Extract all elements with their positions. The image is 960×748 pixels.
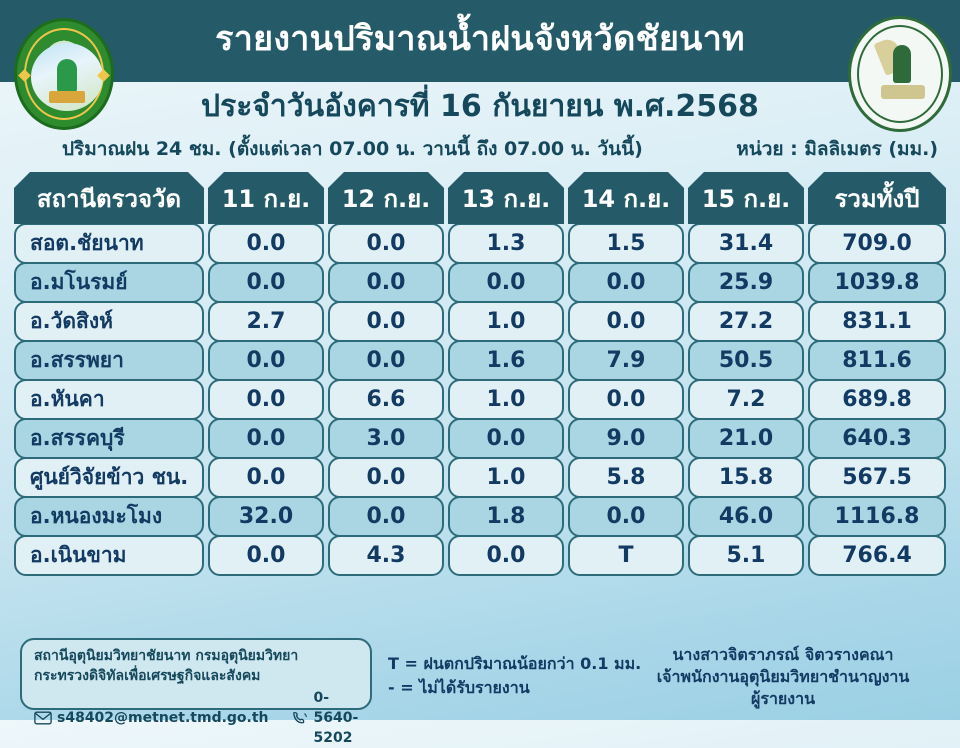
rainfall-value-cell: 50.5 [688, 340, 804, 381]
rainfall-value-cell: 4.3 [328, 535, 444, 576]
rainfall-value-cell: 2.7 [208, 301, 324, 342]
column-header: 15 ก.ย. [688, 172, 804, 224]
column-2: 12 ก.ย.0.00.00.00.06.63.00.00.04.3 [328, 172, 444, 576]
unit-note: หน่วย : มิลลิเมตร (มม.) [736, 136, 938, 162]
rainfall-value-cell: 0.0 [208, 262, 324, 303]
column-header: 11 ก.ย. [208, 172, 324, 224]
logo-pedestal [881, 85, 925, 99]
rainfall-value-cell: 6.6 [328, 379, 444, 420]
logo-deity-figure [893, 45, 911, 83]
column-station: สถานีตรวจวัดสอต.ชัยนาทอ.มโนรมย์อ.วัดสิงห… [14, 172, 204, 576]
contact-box: สถานีอุตุนิยมวิทยาชัยนาท กรมอุตุนิยมวิทย… [20, 638, 372, 710]
contact-line-2: กระทรวงดิจิทัลเพื่อเศรษฐกิจและสังคม [34, 666, 360, 686]
rainfall-value-cell: 1.3 [448, 223, 564, 264]
column-4: 14 ก.ย.1.50.00.07.90.09.05.80.0T [568, 172, 684, 576]
column-1: 11 ก.ย.0.00.02.70.00.00.00.032.00.0 [208, 172, 324, 576]
logo-deity-figure [57, 59, 77, 93]
rainfall-value-cell: 640.3 [808, 418, 946, 459]
rainfall-value-cell: 709.0 [808, 223, 946, 264]
rainfall-value-cell: 0.0 [208, 223, 324, 264]
page-title: รายงานปริมาณน้ำฝนจังหวัดชัยนาท [120, 16, 840, 62]
contact-line-1: สถานีอุตุนิยมวิทยาชัยนาท กรมอุตุนิยมวิทย… [34, 646, 360, 666]
rainfall-value-cell: 32.0 [208, 496, 324, 537]
period-note: ปริมาณฝน 24 ชม. (ตั้งแต่เวลา 07.00 น. วา… [62, 136, 643, 162]
station-name-cell: อ.วัดสิงห์ [14, 301, 204, 342]
rainfall-value-cell: 21.0 [688, 418, 804, 459]
rainfall-value-cell: 1.0 [448, 379, 564, 420]
column-header: 14 ก.ย. [568, 172, 684, 224]
rainfall-value-cell: 0.0 [328, 496, 444, 537]
rainfall-value-cell: 689.8 [808, 379, 946, 420]
rainfall-value-cell: 15.8 [688, 457, 804, 498]
column-3: 13 ก.ย.1.30.01.01.61.00.01.01.80.0 [448, 172, 564, 576]
station-name-cell: อ.หันคา [14, 379, 204, 420]
column-header: 12 ก.ย. [328, 172, 444, 224]
column-6: รวมทั้งปี709.01039.8831.1811.6689.8640.3… [808, 172, 946, 576]
rainfall-value-cell: T [568, 535, 684, 576]
phone-icon [291, 711, 309, 725]
rainfall-value-cell: 0.0 [328, 457, 444, 498]
rainfall-value-cell: 0.0 [448, 262, 564, 303]
rainfall-value-cell: 5.8 [568, 457, 684, 498]
column-header: รวมทั้งปี [808, 172, 946, 224]
rainfall-value-cell: 1.0 [448, 457, 564, 498]
rainfall-value-cell: 0.0 [448, 535, 564, 576]
rainfall-value-cell: 0.0 [328, 262, 444, 303]
rainfall-value-cell: 3.0 [328, 418, 444, 459]
rainfall-value-cell: 1.0 [448, 301, 564, 342]
rainfall-value-cell: 0.0 [328, 301, 444, 342]
rainfall-value-cell: 9.0 [568, 418, 684, 459]
logo-pedestal [49, 91, 85, 103]
reporter-name: นางสาวจิตราภรณ์ จิตวรางคณา [618, 644, 948, 666]
station-name-cell: อ.สรรคบุรี [14, 418, 204, 459]
station-name-cell: อ.สรรพยา [14, 340, 204, 381]
column-5: 15 ก.ย.31.425.927.250.57.221.015.846.05.… [688, 172, 804, 576]
rainfall-value-cell: 831.1 [808, 301, 946, 342]
rainfall-value-cell: 0.0 [208, 379, 324, 420]
rainfall-value-cell: 0.0 [568, 262, 684, 303]
legend-trace: T = ฝนตกปริมาณน้อยกว่า 0.1 มม. [388, 652, 641, 676]
reporter-role: ผู้รายงาน [618, 688, 948, 710]
rainfall-value-cell: 0.0 [568, 379, 684, 420]
rainfall-value-cell: 0.0 [208, 457, 324, 498]
rainfall-value-cell: 811.6 [808, 340, 946, 381]
rainfall-value-cell: 7.9 [568, 340, 684, 381]
rainfall-value-cell: 0.0 [568, 496, 684, 537]
station-name-cell: สอต.ชัยนาท [14, 223, 204, 264]
station-name-cell: ศูนย์วิจัยข้าว ชน. [14, 457, 204, 498]
legend: T = ฝนตกปริมาณน้อยกว่า 0.1 มม. - = ไม่ได… [388, 652, 641, 700]
rainfall-value-cell: 0.0 [448, 418, 564, 459]
rainfall-value-cell: 0.0 [208, 535, 324, 576]
envelope-icon [34, 711, 52, 725]
rainfall-value-cell: 0.0 [208, 340, 324, 381]
rainfall-value-cell: 0.0 [328, 223, 444, 264]
station-name-cell: อ.เนินขาม [14, 535, 204, 576]
ministry-digital-economy-logo [848, 16, 952, 132]
rainfall-value-cell: 1.5 [568, 223, 684, 264]
station-name-cell: อ.มโนรมย์ [14, 262, 204, 303]
rainfall-value-cell: 31.4 [688, 223, 804, 264]
column-header: สถานีตรวจวัด [14, 172, 204, 224]
reporter-position: เจ้าพนักงานอุตุนิยมวิทยาชำนาญงาน [618, 666, 948, 688]
rainfall-value-cell: 0.0 [568, 301, 684, 342]
rainfall-value-cell: 7.2 [688, 379, 804, 420]
rainfall-value-cell: 1.6 [448, 340, 564, 381]
rainfall-value-cell: 25.9 [688, 262, 804, 303]
station-name-cell: อ.หนองมะโมง [14, 496, 204, 537]
rainfall-value-cell: 27.2 [688, 301, 804, 342]
rainfall-value-cell: 1039.8 [808, 262, 946, 303]
rainfall-value-cell: 766.4 [808, 535, 946, 576]
column-header: 13 ก.ย. [448, 172, 564, 224]
rainfall-value-cell: 5.1 [688, 535, 804, 576]
contact-phone[interactable]: 0-5640-5202 [314, 688, 360, 748]
reporter-signature: นางสาวจิตราภรณ์ จิตวรางคณา เจ้าพนักงานอุ… [618, 644, 948, 710]
rainfall-value-cell: 0.0 [208, 418, 324, 459]
rainfall-value-cell: 1.8 [448, 496, 564, 537]
meteorological-department-logo [14, 18, 114, 130]
rainfall-value-cell: 46.0 [688, 496, 804, 537]
rainfall-value-cell: 567.5 [808, 457, 946, 498]
contact-email[interactable]: s48402@metnet.tmd.go.th [57, 708, 269, 728]
legend-no-report: - = ไม่ได้รับรายงาน [388, 676, 641, 700]
rainfall-value-cell: 0.0 [328, 340, 444, 381]
rainfall-value-cell: 1116.8 [808, 496, 946, 537]
report-date: ประจำวันอังคารที่ 16 กันยายน พ.ศ.2568 [120, 88, 840, 126]
